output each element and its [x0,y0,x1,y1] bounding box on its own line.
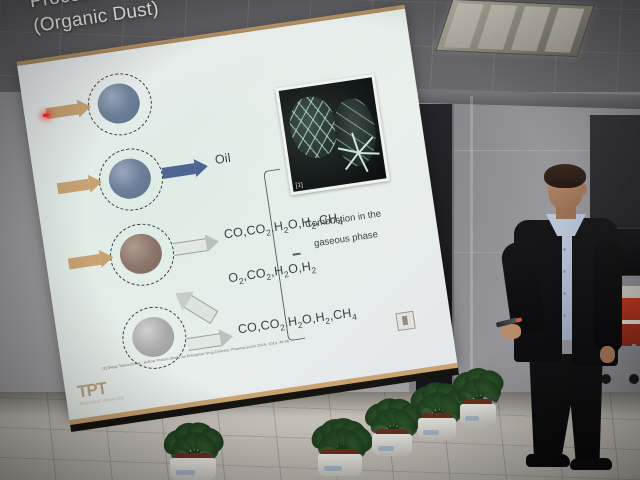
presenter-arm-right [594,240,622,352]
inbound-arrow-2 [57,177,101,183]
slide-body: Oil CO,CO2,H2O,H2,CH4 [17,9,457,422]
ceiling-light-panel [435,0,594,57]
sem-micrograph: [1] [275,74,390,195]
presenter-legs [526,354,606,460]
potted-plant [372,382,412,456]
presenter-shoe [526,454,570,467]
inbound-arrow-1 [46,102,90,108]
reactant-label-4: O2,CO2,H2O,H2 [227,259,317,288]
lecture-room-photo: Process of Lycopodium combustion (Organi… [0,0,640,480]
micrograph-image: [1] [279,77,387,192]
outbound-arrow-4 [187,331,233,338]
potted-plant [418,370,456,440]
cart-wheel [629,374,639,384]
inbound-arrow-4 [183,294,218,324]
spore-reticulate [286,93,341,161]
spore-spikes [340,133,381,172]
potted-plant [460,358,496,426]
potted-plant [318,398,362,476]
presenter [498,168,628,480]
combustion-phase-label: Combustion in the gaseous phase [292,203,397,257]
presenter-hair [544,164,586,188]
presenter-hand-left [502,324,521,339]
outbound-arrow-3 [173,236,219,243]
micrograph-citation: [1] [295,182,303,190]
presenter-hand-right [600,346,615,363]
product-label-oil: Oil [214,151,232,167]
wall-corner-edge [470,96,473,396]
slide-corner-logo [395,311,415,331]
presenter-ear [580,184,587,195]
cart-leg [632,344,636,376]
presenter-shoe [570,458,612,470]
inbound-arrow-3 [68,252,112,258]
outbound-arrow-2 [162,161,208,168]
potted-plant [170,418,216,480]
